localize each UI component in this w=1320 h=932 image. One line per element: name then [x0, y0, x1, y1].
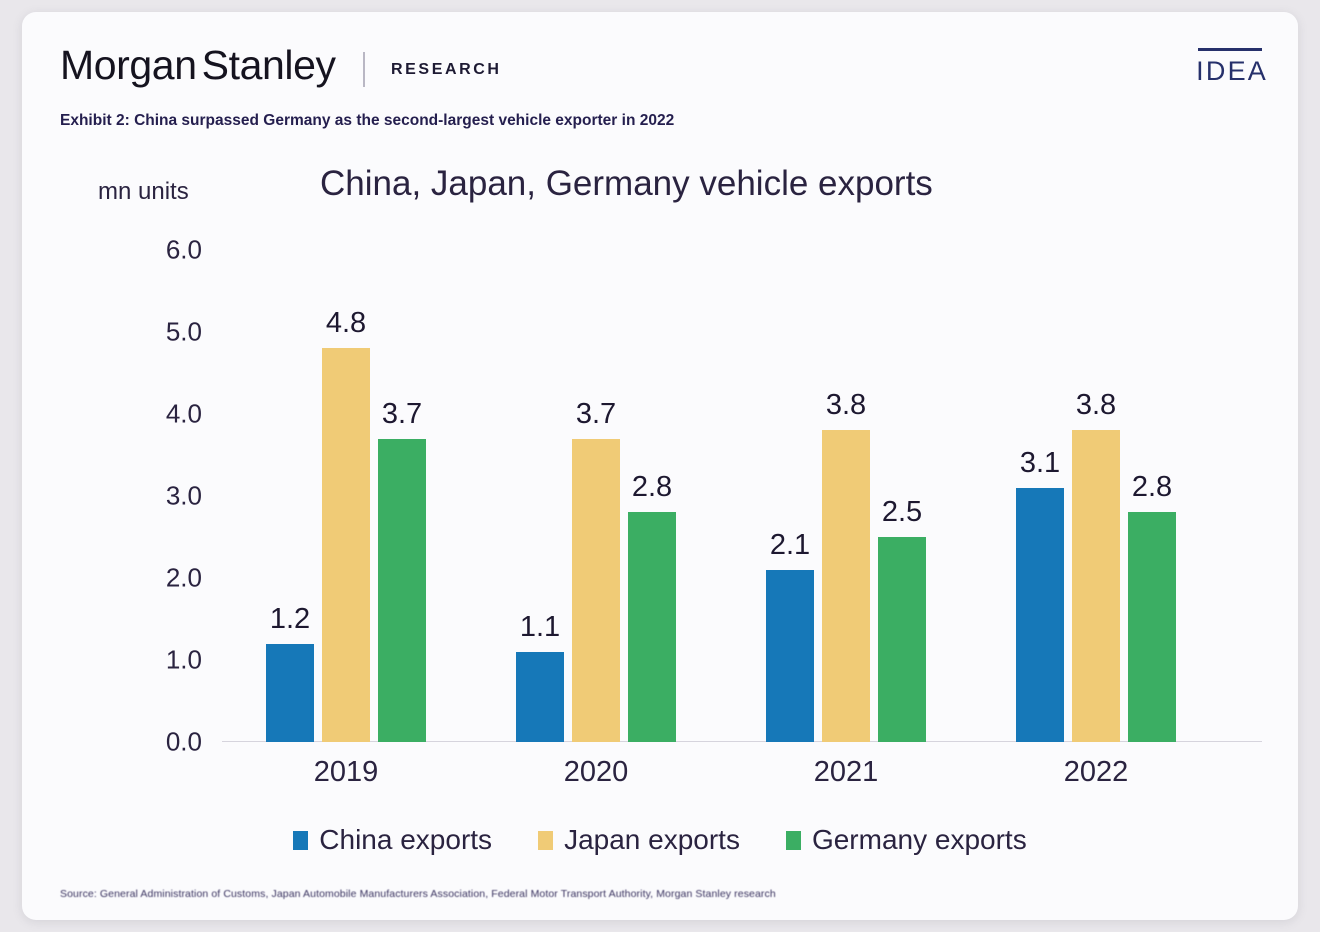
legend-item-china[interactable]: China exports — [293, 824, 492, 856]
legend-label: China exports — [319, 824, 492, 856]
legend-swatch-icon — [293, 831, 308, 850]
x-axis-tick-label: 2020 — [564, 756, 629, 789]
bar-germany-2020[interactable] — [628, 512, 676, 742]
bar-germany-2021[interactable] — [878, 537, 926, 742]
morgan-stanley-wordmark: MorganStanley — [60, 42, 336, 89]
header-divider — [363, 52, 365, 87]
bar-china-2022[interactable] — [1016, 488, 1064, 742]
legend-label: Germany exports — [812, 824, 1027, 856]
legend-swatch-icon — [538, 831, 553, 850]
y-axis-tick-label: 5.0 — [116, 317, 202, 348]
y-axis-tick-label: 6.0 — [116, 235, 202, 266]
y-axis-tick-label: 4.0 — [116, 399, 202, 430]
idea-logo-text: IDEA — [1196, 56, 1268, 87]
idea-rule — [1198, 48, 1262, 51]
bar-value-label: 1.2 — [270, 603, 310, 636]
bar-group: 1.13.72.8 — [516, 250, 676, 742]
bar-group: 2.13.82.5 — [766, 250, 926, 742]
bar-value-label: 2.8 — [632, 471, 672, 504]
bar-china-2020[interactable] — [516, 652, 564, 742]
brand-word-stanley: Stanley — [202, 42, 336, 88]
bar-japan-2022[interactable] — [1072, 430, 1120, 742]
bar-group: 3.13.82.8 — [1016, 250, 1176, 742]
y-axis-tick-label: 3.0 — [116, 481, 202, 512]
exhibit-card: MorganStanley RESEARCH IDEA Exhibit 2: C… — [22, 12, 1298, 920]
bar-china-2021[interactable] — [766, 570, 814, 742]
y-axis-tick-label: 1.0 — [116, 645, 202, 676]
bar-group: 1.24.83.7 — [266, 250, 426, 742]
bar-value-label: 3.8 — [826, 389, 866, 422]
bar-japan-2020[interactable] — [572, 439, 620, 742]
legend-swatch-icon — [786, 831, 801, 850]
bar-value-label: 3.7 — [382, 398, 422, 431]
bar-value-label: 3.8 — [1076, 389, 1116, 422]
source-note: Source: General Administration of Custom… — [60, 888, 776, 900]
y-axis-tick-label: 0.0 — [116, 727, 202, 758]
x-axis-tick-label: 2021 — [814, 756, 879, 789]
bar-value-label: 2.5 — [882, 496, 922, 529]
legend-item-germany[interactable]: Germany exports — [786, 824, 1027, 856]
chart-legend: China exportsJapan exportsGermany export… — [22, 824, 1298, 856]
bar-value-label: 2.8 — [1132, 471, 1172, 504]
x-axis-tick-label: 2019 — [314, 756, 379, 789]
exhibit-caption: Exhibit 2: China surpassed Germany as th… — [60, 112, 674, 130]
legend-label: Japan exports — [564, 824, 740, 856]
bar-japan-2021[interactable] — [822, 430, 870, 742]
bar-germany-2019[interactable] — [378, 439, 426, 742]
bar-value-label: 3.7 — [576, 398, 616, 431]
legend-item-japan[interactable]: Japan exports — [538, 824, 740, 856]
bar-japan-2019[interactable] — [322, 348, 370, 742]
bar-value-label: 4.8 — [326, 307, 366, 340]
x-axis-tick-label: 2022 — [1064, 756, 1129, 789]
bar-china-2019[interactable] — [266, 644, 314, 742]
y-axis-units-label: mn units — [98, 178, 189, 206]
y-axis-tick-label: 2.0 — [116, 563, 202, 594]
brand-word-morgan: Morgan — [60, 42, 197, 88]
bar-chart-plot-area: 0.01.02.03.04.05.06.01.24.83.720191.13.7… — [222, 250, 1262, 742]
chart-title: China, Japan, Germany vehicle exports — [320, 164, 933, 204]
bar-value-label: 1.1 — [520, 611, 560, 644]
bar-value-label: 3.1 — [1020, 447, 1060, 480]
page-background: MorganStanley RESEARCH IDEA Exhibit 2: C… — [0, 0, 1320, 932]
bar-value-label: 2.1 — [770, 529, 810, 562]
research-label: RESEARCH — [391, 61, 502, 79]
bar-germany-2022[interactable] — [1128, 512, 1176, 742]
idea-logo: IDEA — [1196, 48, 1268, 87]
